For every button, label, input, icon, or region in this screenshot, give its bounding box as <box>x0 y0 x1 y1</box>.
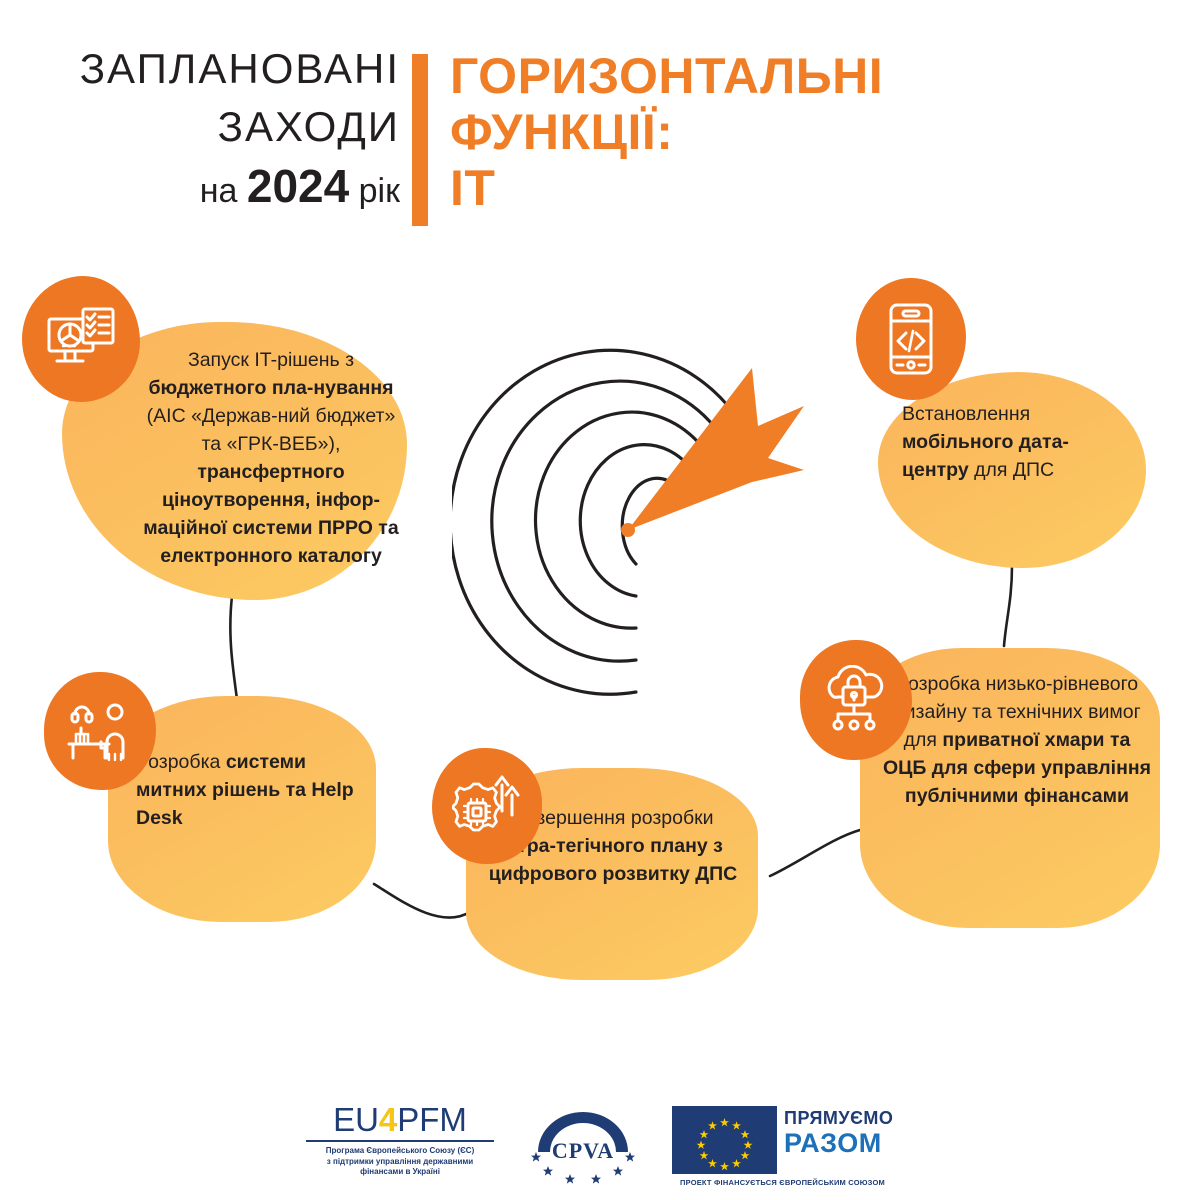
card-2-text: Встановлення мобільного дата-центру для … <box>902 400 1128 484</box>
card-2-run-0: Встановлення <box>902 403 1030 425</box>
card-1-run-1: бюджетного пла-нування <box>148 377 393 399</box>
header-title-line2: ФУНКЦІЇ: <box>450 104 1150 160</box>
monitor-chart-checklist-icon <box>22 276 140 402</box>
header-line-planned: ЗАПЛАНОВАНІ <box>0 40 400 98</box>
card-1-text: Запуск IT-рішень з бюджетного пла-нуванн… <box>140 346 402 570</box>
card-1-run-3: трансфертного ціноутворення, інфор-мацій… <box>143 461 398 567</box>
eu4pfm-four: 4 <box>379 1101 397 1138</box>
cpva-logo: CPVA <box>528 1104 638 1184</box>
card-1-run-2: (АІС «Держав-ний бюджет» та «ГРК-ВЕБ»), <box>147 405 396 455</box>
header-year-value: 2024 <box>247 160 349 212</box>
prymuemo-caption: ПРОЕКТ ФІНАНСУЄТЬСЯ ЄВРОПЕЙСЬКИМ СОЮЗОМ <box>680 1178 885 1187</box>
header-year-prefix: на <box>200 172 247 210</box>
header-line-events: ЗАХОДИ <box>0 98 400 156</box>
connector-card2-card3 <box>1004 566 1012 646</box>
eu-flag-stars <box>672 1106 777 1174</box>
eu4pfm-sub-line2: з підтримки управління державними <box>300 1157 500 1168</box>
eu4pfm-subtitle: Програма Європейського Союзу (ЄС) з підт… <box>300 1146 500 1178</box>
dart-arrow <box>621 368 804 537</box>
card-1-run-0: Запуск IT-рішень з <box>188 349 354 371</box>
eu-flag <box>672 1106 777 1174</box>
card-3-text: Розробка низько-рівневого дизайну та тех… <box>880 670 1154 810</box>
connector-card4-card5 <box>374 884 470 918</box>
header-line-year: на 2024 рік <box>0 156 400 221</box>
header-right-block: ГОРИЗОНТАЛЬНІ ФУНКЦІЇ: IT <box>450 48 1150 216</box>
eu4pfm-eu: EU <box>333 1101 379 1138</box>
eu4pfm-rule <box>306 1140 494 1142</box>
eu4pfm-sub-line1: Програма Європейського Союзу (ЄС) <box>300 1146 500 1157</box>
header-left-block: ЗАПЛАНОВАНІ ЗАХОДИ на 2024 рік <box>0 40 400 221</box>
card-4-run-0: Завершення розробки <box>512 807 713 829</box>
mobile-code-icon <box>856 278 966 400</box>
prymuemo-line2: РАЗОМ <box>784 1128 882 1159</box>
eu4pfm-wordmark: EU4PFM <box>300 1102 500 1138</box>
eu4pfm-sub-line3: фінансами в Україні <box>300 1167 500 1178</box>
header-year-suffix: рік <box>349 172 400 210</box>
header: ЗАПЛАНОВАНІ ЗАХОДИ на 2024 рік ГОРИЗОНТА… <box>0 40 1200 260</box>
header-title-line1: ГОРИЗОНТАЛЬНІ <box>450 48 1150 104</box>
card-5-text: Розробка системи митних рішень та Help D… <box>136 748 358 832</box>
infographic-root: ЗАПЛАНОВАНІ ЗАХОДИ на 2024 рік ГОРИЗОНТА… <box>0 0 1200 1200</box>
cpva-name: CPVA <box>528 1138 638 1164</box>
footer: EU4PFM Програма Європейського Союзу (ЄС)… <box>0 1088 1200 1200</box>
card-2-run-2: для ДПС <box>969 459 1054 481</box>
header-title-line3: IT <box>450 160 1150 216</box>
support-desk-icon <box>44 672 156 790</box>
target-with-dart-icon <box>452 330 812 720</box>
eu4pfm-logo: EU4PFM Програма Європейського Союзу (ЄС)… <box>300 1102 500 1178</box>
connector-card3-card4 <box>770 830 860 876</box>
card-mobile-data-center[interactable]: Встановлення мобільного дата-центру для … <box>878 372 1146 568</box>
prymuemo-line1: ПРЯМУЄМО <box>784 1108 893 1129</box>
cloud-lock-network-icon <box>800 640 912 760</box>
gear-chip-growth-icon <box>432 748 542 864</box>
eu4pfm-pfm: PFM <box>397 1101 467 1138</box>
prymuemo-razom-logo: ПРЯМУЄМО РАЗОМ ПРОЕКТ ФІНАНСУЄТЬСЯ ЄВРОП… <box>672 1106 912 1186</box>
header-divider-bar <box>412 54 428 226</box>
